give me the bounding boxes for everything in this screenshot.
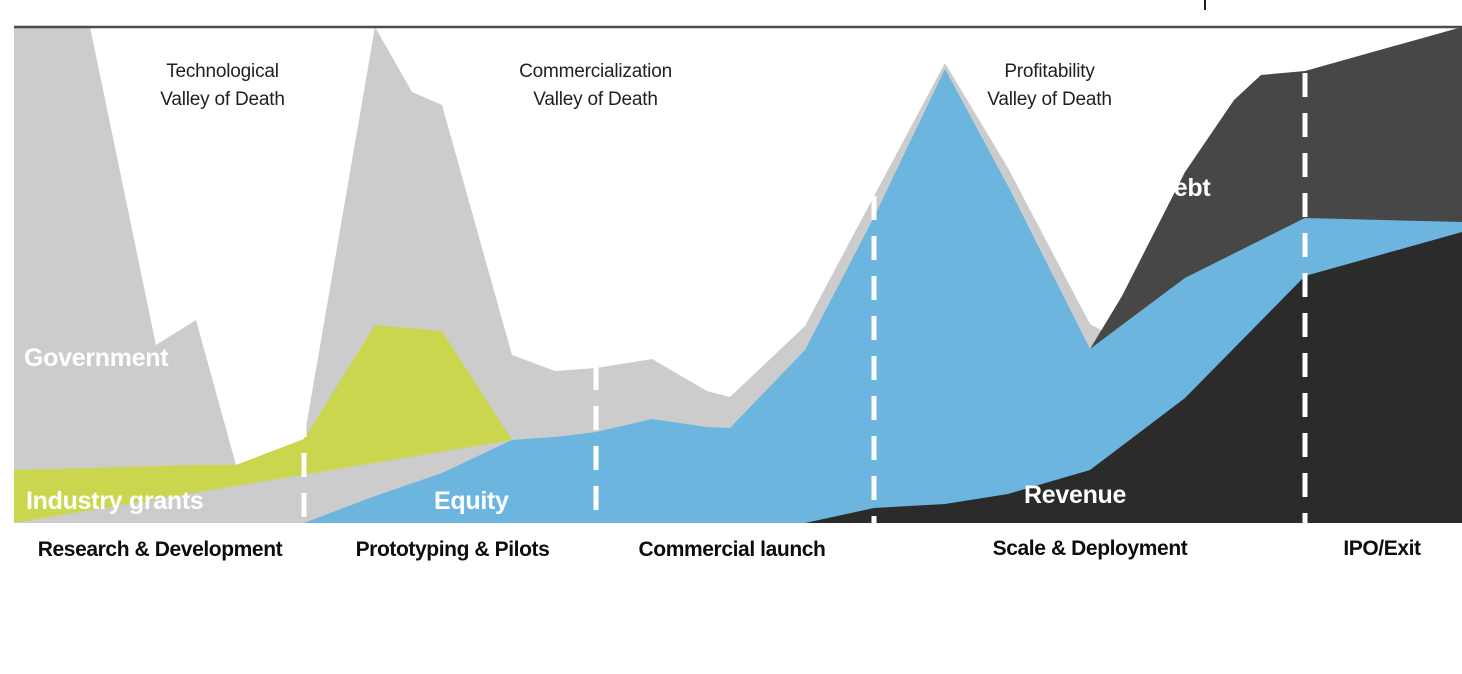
series-label-debt: Debt: [1156, 174, 1210, 203]
stage-label-commercial-launch: Commercial launch: [592, 538, 872, 562]
series-label-revenue: Revenue: [1024, 481, 1126, 510]
stacked-area-chart-figure: Technological Valley of Death Commercial…: [0, 0, 1462, 674]
series-label-government: Government: [24, 344, 168, 373]
stage-label-research-development: Research & Development: [0, 538, 320, 562]
annotation-profitability-valley: Profitability Valley of Death: [952, 58, 1147, 113]
annotation-commercialization-valley: Commercialization Valley of Death: [498, 58, 693, 113]
stage-label-prototyping-pilots: Prototyping & Pilots: [300, 538, 605, 562]
series-label-equity: Equity: [434, 487, 509, 516]
series-label-industry-grants: Industry grants: [26, 487, 203, 516]
stage-label-ipo-exit: IPO/Exit: [1302, 537, 1462, 561]
annotation-technological-valley: Technological Valley of Death: [125, 58, 320, 113]
stage-label-scale-deployment: Scale & Deployment: [880, 537, 1300, 561]
